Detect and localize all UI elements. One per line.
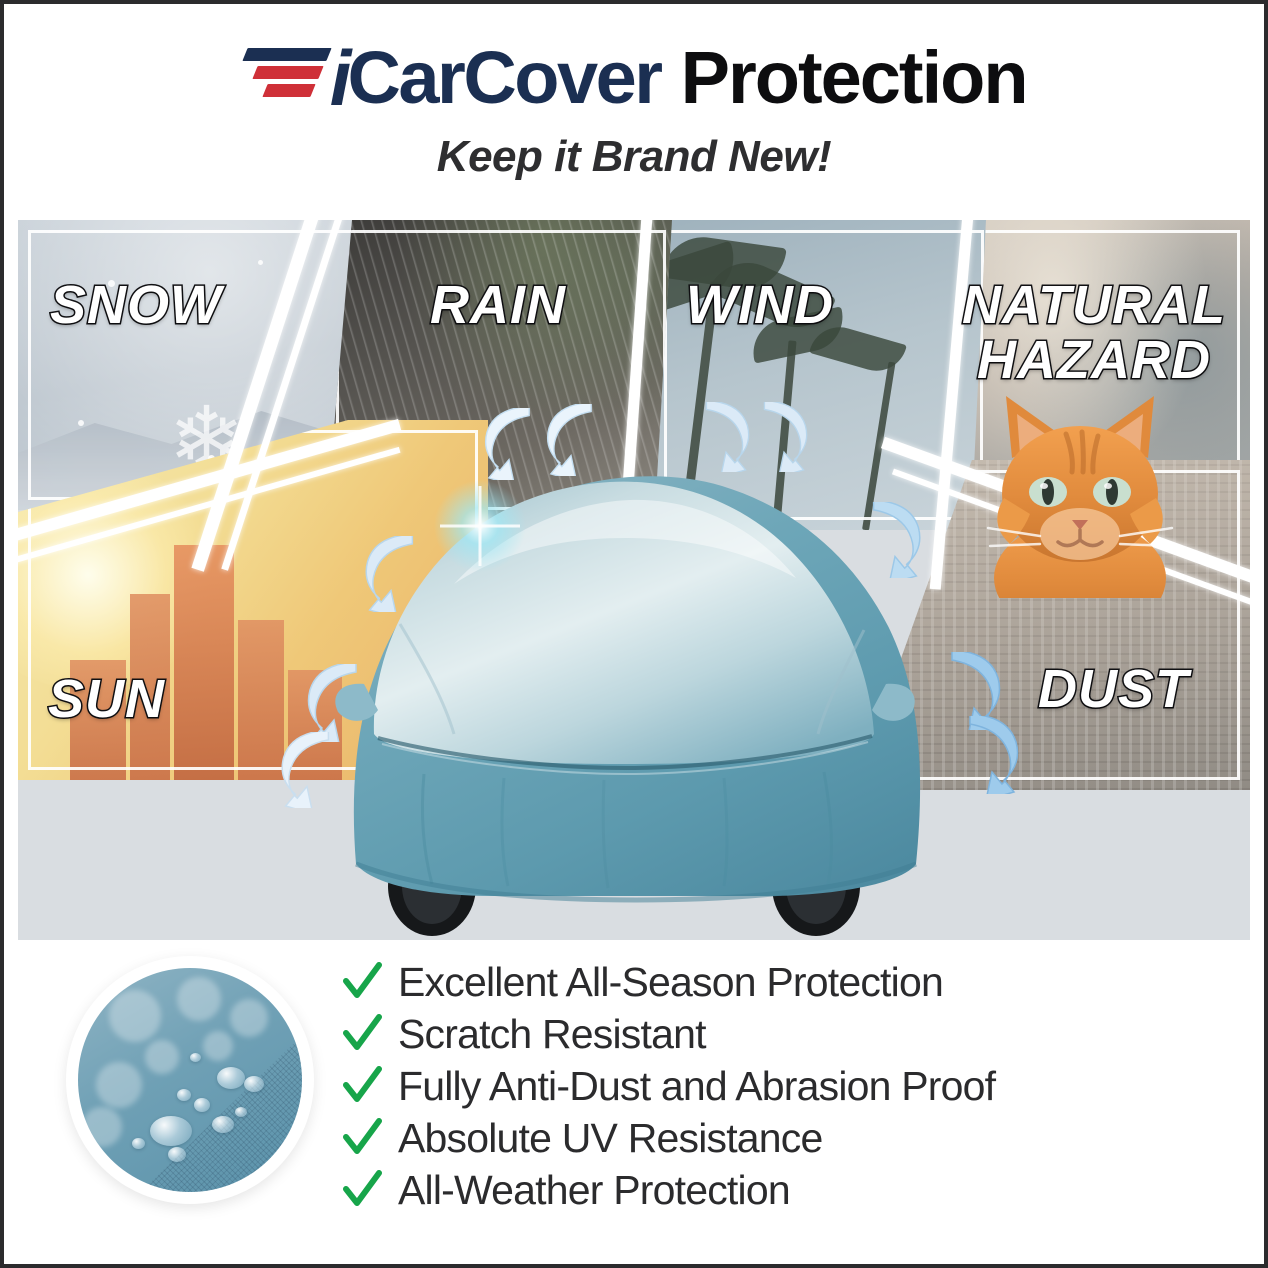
check-icon [342, 962, 382, 1002]
feature-item: Excellent All-Season Protection [342, 956, 1172, 1008]
snow-particle [78, 420, 84, 426]
water-bead [177, 1089, 191, 1101]
bokeh-spot [230, 999, 268, 1037]
feature-label: Absolute UV Resistance [398, 1118, 823, 1159]
header: i CarCover Protection Keep it Brand New! [4, 30, 1264, 200]
check-icon [342, 1170, 382, 1210]
icarcover-logo-icon: i [241, 42, 345, 114]
water-bead [212, 1116, 234, 1133]
feature-label: Scratch Resistant [398, 1014, 706, 1055]
logo-letter-i: i [330, 42, 350, 114]
water-bead [132, 1138, 145, 1149]
bokeh-spot [203, 1031, 233, 1061]
panel-label-rain: RAIN [430, 278, 566, 333]
water-bead [168, 1147, 186, 1162]
water-beading-inset [66, 956, 314, 1204]
feature-item: Scratch Resistant [342, 1008, 1172, 1060]
water-beading-photo [78, 968, 302, 1192]
check-icon [342, 1066, 382, 1106]
feature-item: All-Weather Protection [342, 1164, 1172, 1216]
logo-bar-navy [243, 48, 332, 61]
bokeh-spot [109, 990, 161, 1042]
city-building [174, 545, 234, 780]
feature-item: Fully Anti-Dust and Abrasion Proof [342, 1060, 1172, 1112]
bokeh-spot [82, 1107, 122, 1147]
snow-particle [258, 260, 263, 265]
feature-item: Absolute UV Resistance [342, 1112, 1172, 1164]
check-icon [342, 1014, 382, 1054]
logo-bar-red-lower [263, 84, 316, 97]
feature-label: Fully Anti-Dust and Abrasion Proof [398, 1066, 995, 1107]
water-bead [194, 1098, 210, 1112]
product-marketing-image: i CarCover Protection Keep it Brand New!… [0, 0, 1268, 1268]
brand-title-row: i CarCover Protection [4, 30, 1264, 126]
tagline: Keep it Brand New! [4, 132, 1264, 182]
panel-label-sun: SUN [48, 672, 165, 727]
panel-label-snow: SNOW [50, 278, 222, 333]
city-building [238, 620, 284, 780]
feature-label: Excellent All-Season Protection [398, 962, 943, 1003]
panel-label-wind: WIND [686, 278, 834, 333]
car-cover-product [304, 434, 944, 944]
check-icon [342, 1118, 382, 1158]
water-bead [244, 1076, 264, 1092]
brand-suffix: Protection [681, 38, 1027, 118]
water-bead [235, 1107, 247, 1117]
water-bead [190, 1053, 201, 1062]
panel-label-natural-hazard: NATURAL HAZARD [944, 278, 1244, 388]
brand-name: CarCover [347, 38, 660, 118]
water-bead [150, 1116, 192, 1146]
water-bead [217, 1067, 245, 1089]
bokeh-spot [96, 1062, 142, 1108]
feature-label: All-Weather Protection [398, 1170, 790, 1211]
feature-list: Excellent All-Season Protection Scratch … [342, 956, 1172, 1216]
logo-bar-red-upper [253, 66, 324, 79]
bokeh-spot [177, 977, 221, 1021]
bokeh-spot [145, 1040, 179, 1074]
panel-label-dust: DUST [1038, 662, 1189, 717]
